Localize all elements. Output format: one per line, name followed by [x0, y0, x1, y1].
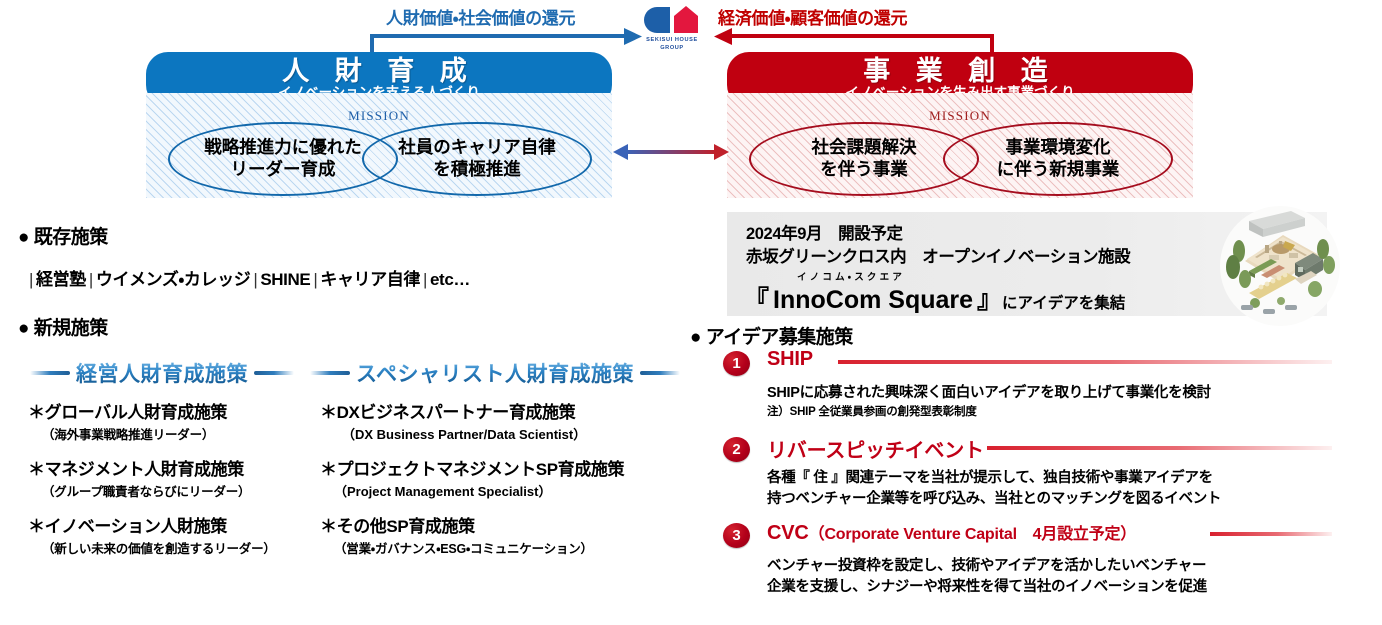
idea-title-3: CVC（Corporate Venture Capital 4月設立予定）	[767, 520, 1136, 545]
existing-sep-0: |	[26, 270, 36, 289]
pillar-body-left: MISSION 戦略推進力に優れた リーダー育成 社員のキャリア自律 を積極推進	[146, 93, 612, 198]
idea-body-1-line1: SHIPに応募された興味深く面白いアイデアを取り上げて事業化を検討	[767, 383, 1211, 404]
existing-item-1: ウイメンズ・カレッジ	[96, 270, 250, 289]
idea-rule-1	[838, 360, 1332, 364]
existing-sep-4: |	[420, 270, 430, 289]
banner-bracket-open: 『	[744, 286, 769, 314]
existing-measures-list: |経営塾|ウイメンズ・カレッジ|SHINE|キャリア自律|etc…	[26, 265, 470, 290]
section-title-text-2: スペシャリスト人財育成施策	[356, 358, 634, 388]
sekisui-house-group-logo: SEKISUI HOUSE GROUP	[637, 4, 707, 52]
mission-ellipse-left-2-line2: を積極推進	[398, 159, 556, 181]
mission-ellipse-right-1-line1: 社会課題解決	[812, 137, 917, 159]
measure-item-c2-3: ＊その他SP育成施策 （営業・ガバナンス・ESG・コミュニケーション）	[320, 512, 593, 557]
banner-product-name: 『InnoCom Square』にアイデアを集結	[744, 280, 1125, 316]
measure-item-c1-3: ＊イノベーション人財施策 （新しい未来の価値を創造するリーダー）	[28, 512, 276, 557]
mission-ellipses-right: 社会課題解決 を伴う事業 事業環境変化 に伴う新規事業	[727, 122, 1193, 200]
measure-sub-c2-3: （営業・ガバナンス・ESG・コミュニケーション）	[334, 538, 593, 557]
measure-item-c2-1: ＊DXビジネスパートナー育成施策 （DX Business Partner/Da…	[320, 398, 586, 443]
measure-main-c2-2: ＊プロジェクトマネジメントSP育成施策	[320, 455, 624, 480]
pillar-body-right: MISSION 社会課題解決 を伴う事業 事業環境変化 に伴う新規事業	[727, 93, 1193, 198]
mission-ellipse-right-2-line1: 事業環境変化	[997, 137, 1120, 159]
idea-body-2-line2: 持つベンチャー企業等を呼び込み、当社とのマッチングを図るイベント	[767, 489, 1221, 510]
measure-item-c1-1: ＊グローバル人財育成施策 （海外事業戦略推進リーダー）	[28, 398, 227, 443]
section-title-keiei-jinzai: 経営人財育成施策	[30, 358, 294, 388]
banner-line1: 2024年9月 開設予定	[746, 220, 903, 244]
section-title-specialist-jinzai: スペシャリスト人財育成施策	[310, 358, 680, 388]
banner-name-suffix: にアイデアを集結	[1002, 295, 1125, 312]
pillar-jinzai-ikusei: 人 財 育 成 イノベーションを支える人づくり MISSION 戦略推進力に優れ…	[146, 52, 612, 198]
mission-ellipse-right-1-line2: を伴う事業	[812, 159, 917, 181]
idea-number-badge-3: 3	[723, 523, 750, 548]
heading-new-measures: ● 新規施策	[18, 313, 108, 340]
mission-ellipses-left: 戦略推進力に優れた リーダー育成 社員のキャリア自律 を積極推進	[146, 122, 612, 200]
mission-ellipse-left-2: 社員のキャリア自律 を積極推進	[362, 122, 592, 196]
idea-body-2-line1: 各種『 住 』関連テーマを当社が提示して、独自技術や事業アイデアを	[767, 468, 1213, 489]
section-rule-right-2	[640, 371, 680, 375]
banner-line2: 赤坂グリーンクロス内 オープンイノベーション施設	[746, 243, 1130, 267]
section-title-text-1: 経営人財育成施策	[76, 358, 248, 388]
innocom-floorplan-image	[1219, 205, 1341, 327]
bidirectional-arrow-center	[612, 142, 730, 164]
idea-title-main-3: CVC	[767, 522, 809, 544]
mission-ellipse-right-2: 事業環境変化 に伴う新規事業	[943, 122, 1173, 196]
measure-sub-c2-2: （Project Management Specialist）	[334, 481, 624, 500]
logo-marks-icon	[639, 4, 705, 36]
idea-body-3-line1: ベンチャー投資枠を設定し、技術やアイデアを活かしたいベンチャー	[767, 556, 1206, 577]
section-rule-right-1	[254, 371, 294, 375]
idea-title-main-2: リバースピッチイベント	[767, 440, 984, 462]
idea-title-paren-3: （Corporate Venture Capital 4月設立予定）	[809, 526, 1136, 543]
existing-item-2: SHINE	[260, 270, 310, 289]
section-rule-left-2	[310, 371, 350, 375]
measure-sub-c1-2: （グループ職責者ならびにリーダー）	[42, 481, 250, 500]
logo-caption-line1: SEKISUI HOUSE	[637, 37, 707, 44]
mission-ellipse-left-1-line2: リーダー育成	[204, 159, 362, 181]
mission-ellipse-left-1-line1: 戦略推進力に優れた	[204, 137, 362, 159]
heading-idea-recruitment: ● アイデア募集施策	[690, 322, 853, 349]
existing-item-4: etc…	[430, 270, 470, 289]
pillar-jigyo-sozo: 事 業 創 造 イノベーションを生み出す事業づくり MISSION 社会課題解決…	[727, 52, 1193, 198]
measure-main-c2-3: ＊その他SP育成施策	[320, 512, 593, 537]
pillar-title-right: 事 業 創 造	[727, 56, 1193, 86]
logo-caption-line2: GROUP	[637, 45, 707, 52]
existing-sep-3: |	[310, 270, 320, 289]
measure-item-c2-2: ＊プロジェクトマネジメントSP育成施策 （Project Management …	[320, 455, 624, 500]
measure-sub-c1-3: （新しい未来の価値を創造するリーダー）	[42, 538, 276, 557]
existing-sep-2: |	[250, 270, 260, 289]
mission-ellipse-right-2-line2: に伴う新規事業	[997, 159, 1120, 181]
mission-ellipse-left-2-line1: 社員のキャリア自律	[398, 137, 556, 159]
measure-sub-c2-1: （DX Business Partner/Data Scientist）	[342, 424, 586, 443]
section-rule-left-1	[30, 371, 70, 375]
existing-sep-1: |	[86, 270, 96, 289]
idea-number-badge-2: 2	[723, 437, 750, 462]
pillar-title-left: 人 財 育 成	[146, 56, 612, 86]
idea-title-2: リバースピッチイベント	[767, 434, 984, 463]
idea-title-main-1: SHIP	[767, 348, 813, 370]
measure-main-c1-3: ＊イノベーション人財施策	[28, 512, 276, 537]
measure-main-c1-1: ＊グローバル人財育成施策	[28, 398, 227, 423]
idea-rule-3	[1210, 532, 1332, 536]
banner-name: InnoCom Square	[769, 286, 977, 314]
idea-body-3-line2: 企業を支援し、シナジーや将来性を得て当社のイノベーションを促進	[767, 577, 1207, 598]
banner-bracket-close: 』	[977, 286, 1002, 314]
idea-number-badge-1: 1	[723, 351, 750, 376]
measure-main-c2-1: ＊DXビジネスパートナー育成施策	[320, 398, 586, 423]
idea-title-1: SHIP	[767, 348, 813, 371]
idea-rule-2	[987, 446, 1332, 450]
existing-item-3: キャリア自律	[320, 270, 420, 289]
idea-note-1: 注）SHIP 全従業員参画の創発型表彰制度	[767, 403, 977, 419]
slide-root: 人財価値・社会価値の還元 経済価値・顧客価値の還元 SEKISUI HOUSE …	[0, 0, 1382, 625]
measure-sub-c1-1: （海外事業戦略推進リーダー）	[42, 424, 227, 443]
measure-item-c1-2: ＊マネジメント人財育成施策 （グループ職責者ならびにリーダー）	[28, 455, 250, 500]
existing-item-0: 経営塾	[36, 270, 86, 289]
heading-existing-measures: ● 既存施策	[18, 222, 108, 249]
measure-main-c1-2: ＊マネジメント人財育成施策	[28, 455, 250, 480]
